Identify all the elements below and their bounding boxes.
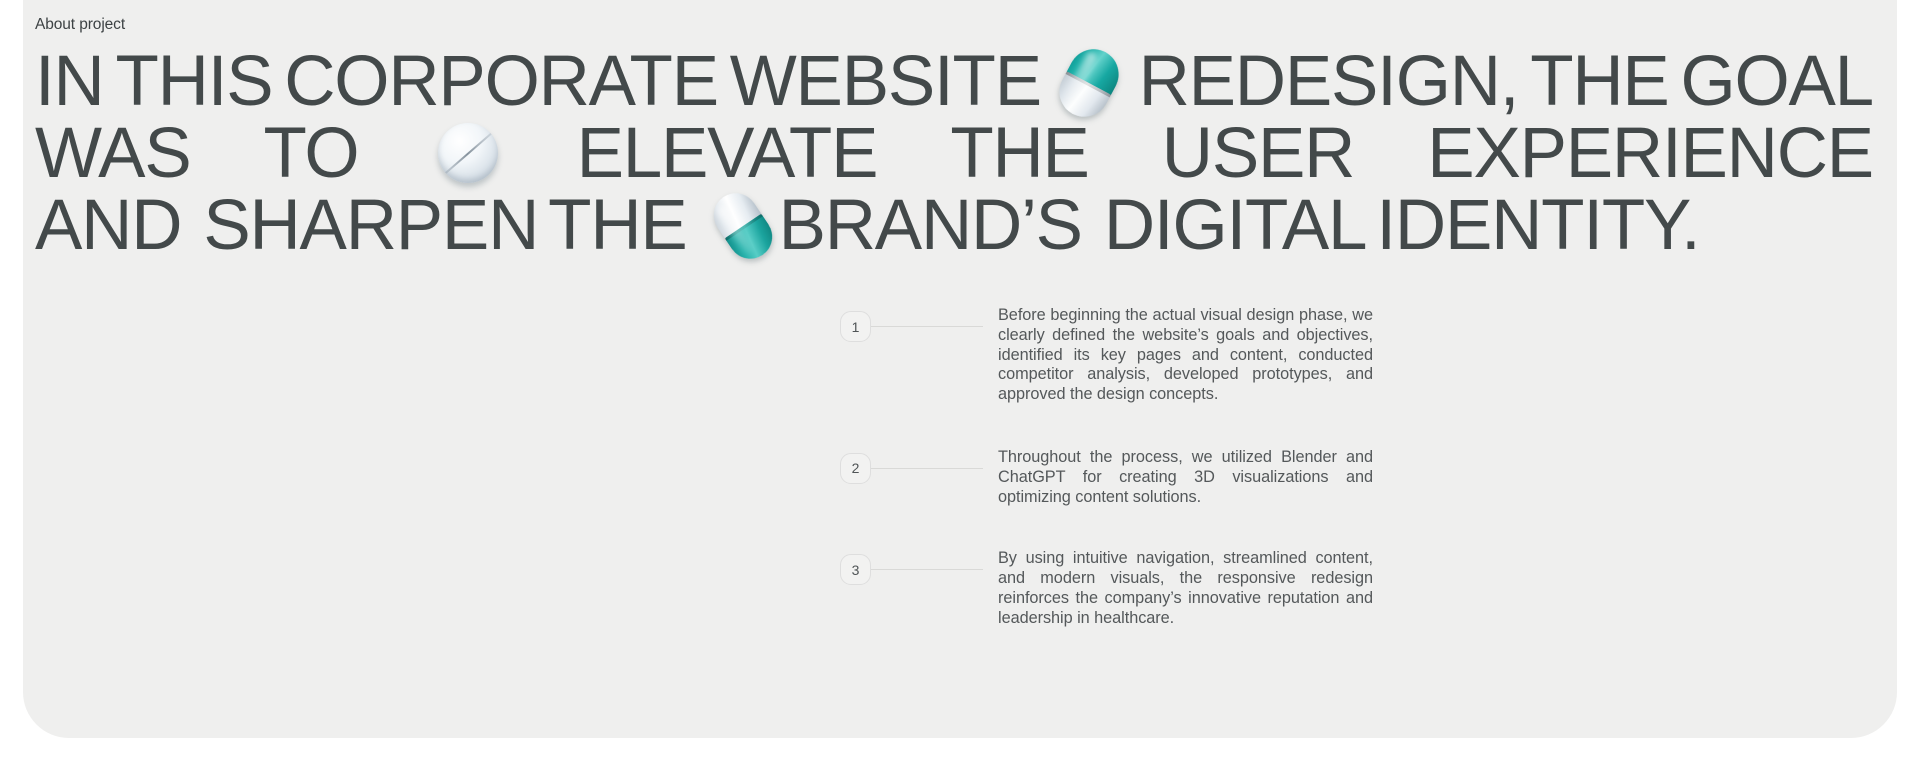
headline-word: THIS bbox=[115, 46, 272, 118]
capsule-white-teal-pill-icon bbox=[709, 187, 779, 265]
list-item: 3 By using intuitive navigation, streaml… bbox=[840, 549, 1440, 628]
about-project-section: About project IN THIS CORPORATE WEBSITE … bbox=[23, 0, 1897, 738]
step-number-badge: 2 bbox=[840, 453, 871, 484]
round-white-tablet-icon bbox=[432, 118, 504, 190]
step-connector-line bbox=[871, 468, 983, 469]
capsule-body bbox=[705, 185, 781, 268]
step-connector-line bbox=[871, 569, 983, 570]
headline-word: THE bbox=[548, 190, 686, 262]
headline-word: WAS bbox=[35, 118, 191, 190]
step-connector-line bbox=[871, 326, 983, 327]
headline-word: TO bbox=[264, 118, 359, 190]
headline-line-3: AND SHARPEN THE BRAND’S DIGITAL IDENTITY… bbox=[35, 190, 1873, 262]
list-item: 1 Before beginning the actual visual des… bbox=[840, 306, 1440, 405]
headline-word: DIGITAL bbox=[1104, 190, 1367, 262]
list-item: 2 Throughout the process, we utilized Bl… bbox=[840, 448, 1440, 507]
capsule-teal-white-pill-icon bbox=[1053, 45, 1127, 119]
section-eyebrow-label: About project bbox=[35, 16, 125, 35]
tablet-face bbox=[438, 123, 498, 183]
step-number-badge: 3 bbox=[840, 554, 871, 585]
step-description: By using intuitive navigation, streamlin… bbox=[983, 549, 1373, 628]
headline-word: USER bbox=[1162, 118, 1354, 190]
headline-word: THE bbox=[950, 118, 1088, 190]
headline-word: REDESIGN, bbox=[1139, 46, 1519, 118]
headline-word: EXPERIENCE bbox=[1427, 118, 1873, 190]
headline-word: GOAL bbox=[1680, 46, 1873, 118]
process-steps-list: 1 Before beginning the actual visual des… bbox=[840, 306, 1440, 629]
step-description: Throughout the process, we utilized Blen… bbox=[983, 448, 1373, 507]
headline-line-2: WAS TO ELEVATE THE USER EXPERIENCE bbox=[35, 118, 1873, 190]
headline-word: CORPORATE bbox=[284, 46, 718, 118]
headline-line-1: IN THIS CORPORATE WEBSITE REDESIGN, THE … bbox=[35, 46, 1873, 118]
headline-word: WEBSITE bbox=[730, 46, 1041, 118]
step-description: Before beginning the actual visual desig… bbox=[983, 306, 1373, 405]
headline-word: ELEVATE bbox=[577, 118, 878, 190]
headline-word: IDENTITY. bbox=[1376, 190, 1699, 262]
step-number-badge: 1 bbox=[840, 311, 871, 342]
headline-word: IN bbox=[35, 46, 104, 118]
headline-word: THE bbox=[1530, 46, 1668, 118]
headline: IN THIS CORPORATE WEBSITE REDESIGN, THE … bbox=[35, 46, 1873, 262]
headline-word: SHARPEN bbox=[203, 190, 538, 262]
headline-word: BRAND’S bbox=[779, 190, 1082, 262]
capsule-body bbox=[1050, 40, 1127, 125]
headline-word: AND bbox=[35, 190, 181, 262]
